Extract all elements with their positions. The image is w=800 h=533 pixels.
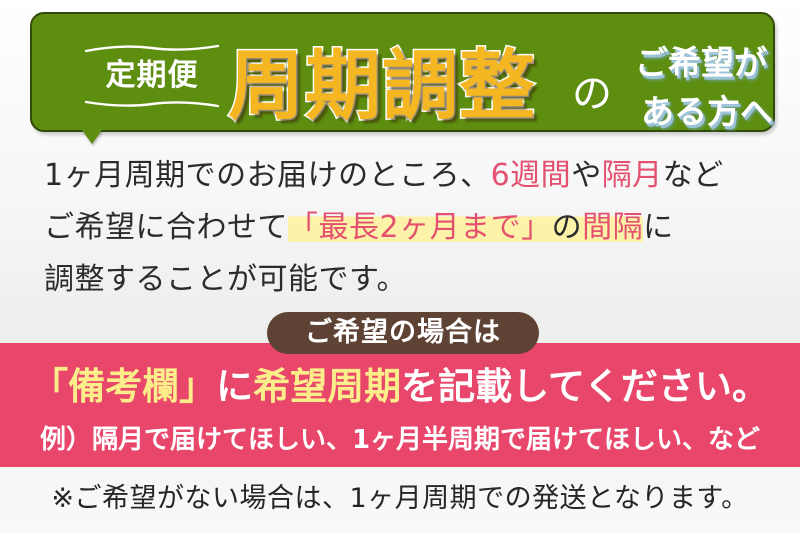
header-right-note-line1: ご希望が (635, 38, 795, 87)
body-line2-accent-2: 間隔 (582, 210, 643, 245)
body-line1-accent-1: 6週間 (491, 158, 572, 193)
wave-decoration-top-icon (82, 44, 222, 53)
body-line1-text-b: や (571, 158, 602, 193)
body-line2-marker: 「最長2ヶ月まで」の間隔 (288, 210, 643, 245)
body-line2-text-b: に (643, 210, 674, 245)
body-line1-accent-2: 隔月 (602, 158, 663, 193)
body-line1-text-a: 1ヶ月周期でのお届けのところ、 (44, 158, 491, 193)
callout-tail-icon (82, 130, 102, 144)
body-line2-text-a: ご希望に合わせて (44, 210, 288, 245)
body-line-2: ご希望に合わせて「最長2ヶ月まで」の間隔に (44, 202, 764, 254)
status-badge: ご希望の場合は (267, 312, 539, 354)
body-line2-accent-1: 「最長2ヶ月まで」 (288, 210, 552, 245)
footer-note: ※ご希望がない場合は、1ヶ月周期での発送となります。 (0, 478, 800, 520)
subscription-badge-label: 定期便 (106, 58, 199, 93)
body-line2-particle: の (552, 210, 583, 245)
title-particle: の (572, 66, 612, 122)
page-title: 周期調整 (228, 36, 536, 136)
body-line-3: 調整することが可能です。 (44, 254, 764, 306)
body-paragraph: 1ヶ月周期でのお届けのところ、6週間や隔月など ご希望に合わせて「最長2ヶ月まで… (44, 150, 764, 306)
pink-headline-part2: に (216, 365, 253, 408)
body-line-1: 1ヶ月周期でのお届けのところ、6週間や隔月など (44, 150, 764, 202)
wave-decoration-bottom-icon (82, 99, 222, 108)
header-right-note-line2: ある方へ (635, 87, 795, 136)
pink-headline-part4: を記載してください。 (401, 365, 769, 408)
pink-headline: 「備考欄」に希望周期を記載してください。 (0, 360, 800, 414)
pink-headline-part1: 「備考欄」 (31, 365, 216, 408)
pink-example-text: 例）隔月で届けてほしい、1ヶ月半周期で届けてほしい、など (0, 422, 800, 458)
header-callout-box: 定期便 周期調整 の ご希望が ある方へ (30, 12, 775, 132)
promo-banner: 定期便 周期調整 の ご希望が ある方へ 1ヶ月周期でのお届けのところ、6週間や… (0, 0, 800, 533)
body-line1-text-c: など (663, 158, 724, 193)
subscription-badge: 定期便 (82, 44, 222, 108)
status-badge-label: ご希望の場合は (267, 312, 539, 354)
pink-headline-part3: 希望周期 (253, 365, 401, 408)
header-right-note: ご希望が ある方へ (635, 38, 795, 136)
